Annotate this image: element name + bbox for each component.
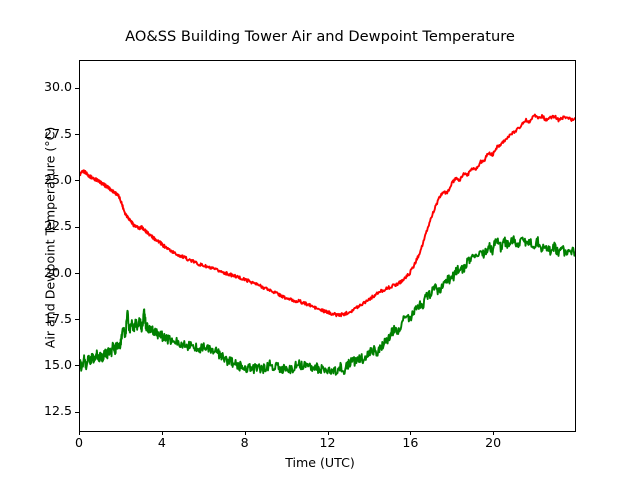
y-axis-tick-labels: 12.515.017.520.022.525.027.530.0: [0, 0, 72, 480]
x-axis-label: Time (UTC): [0, 455, 640, 470]
air-temperature-line: [80, 115, 575, 317]
x-axis-tick-label: 20: [485, 437, 501, 450]
plot-area: [79, 60, 576, 432]
data-series-group: [80, 115, 575, 375]
y-axis-label: Air and Dewpoint Temperature (°C): [43, 52, 58, 424]
chart-title-line1: AO&SS Building Tower Air and Dewpoint Te…: [125, 28, 515, 45]
plot-svg: [80, 61, 575, 431]
chart-figure: AO&SS Building Tower Air and Dewpoint Te…: [0, 0, 640, 480]
x-axis-tick-label: 4: [158, 437, 166, 450]
x-axis-tick-label: 12: [319, 437, 335, 450]
dewpoint-temperature-line: [80, 236, 575, 375]
x-axis-tick-label: 0: [75, 437, 83, 450]
x-axis-tick-label: 16: [402, 437, 418, 450]
x-axis-tick-label: 8: [241, 437, 249, 450]
